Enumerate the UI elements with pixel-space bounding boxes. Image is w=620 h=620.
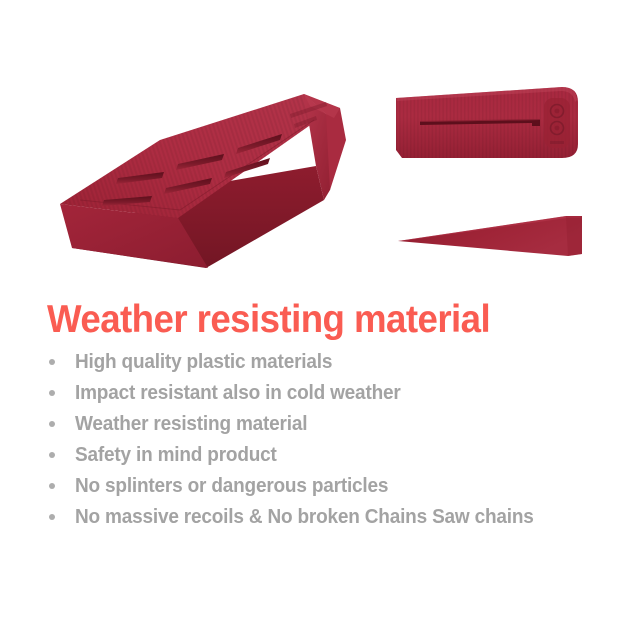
feature-text: No splinters or dangerous particles xyxy=(75,474,388,498)
list-item: Weather resisting material xyxy=(0,412,620,443)
wedge-perspective-view-image xyxy=(58,78,358,268)
bullet-dot-icon xyxy=(49,483,55,489)
bullet-dot-icon xyxy=(49,452,55,458)
list-item: No massive recoils & No broken Chains Sa… xyxy=(0,505,620,536)
bullet-dot-icon xyxy=(49,421,55,427)
feature-text: Safety in mind product xyxy=(75,443,277,467)
wedge-body-topview xyxy=(396,87,578,158)
list-item: Impact resistant also in cold weather xyxy=(0,381,620,412)
wedge-body-perspective xyxy=(60,94,346,268)
list-item: High quality plastic materials xyxy=(0,350,620,381)
bullet-dot-icon xyxy=(49,390,55,396)
feature-text: No massive recoils & No broken Chains Sa… xyxy=(75,505,534,529)
feature-text: High quality plastic materials xyxy=(75,350,332,374)
product-image-area xyxy=(0,0,620,292)
feature-text: Impact resistant also in cold weather xyxy=(75,381,401,405)
wedge-emboss-panel xyxy=(544,98,570,148)
list-item: Safety in mind product xyxy=(0,443,620,474)
feature-text: Weather resisting material xyxy=(75,412,307,436)
list-item: No splinters or dangerous particles xyxy=(0,474,620,505)
wedge-top-view-image xyxy=(392,84,584,164)
page-title: Weather resisting material xyxy=(47,300,490,339)
bullet-dot-icon xyxy=(49,359,55,365)
wedge-side-profile-image xyxy=(396,210,586,262)
wedge-body-sideview xyxy=(398,216,582,256)
feature-list: High quality plastic materials Impact re… xyxy=(0,350,620,536)
bullet-dot-icon xyxy=(49,514,55,520)
